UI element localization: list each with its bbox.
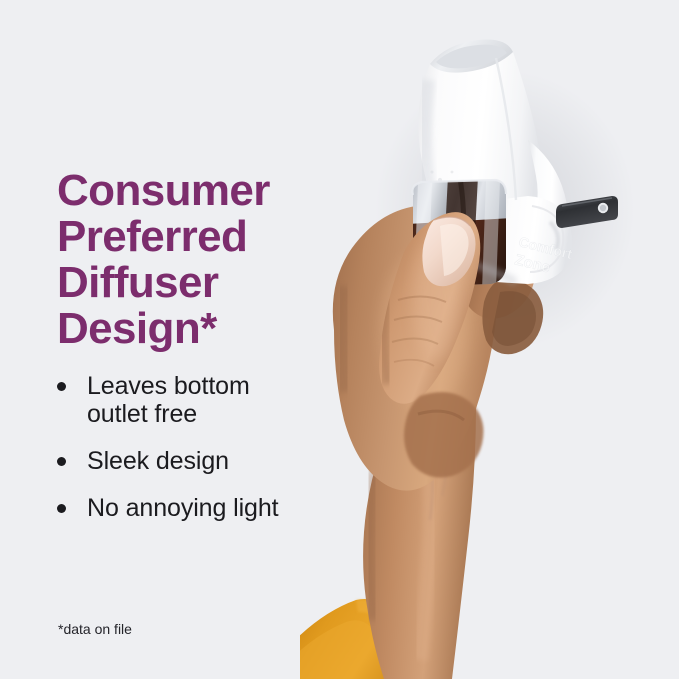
bullet-icon	[57, 457, 66, 466]
list-item: No annoying light	[57, 494, 367, 522]
list-item-label: Sleek design	[87, 447, 229, 475]
list-item-label: Leaves bottom outlet free	[87, 372, 250, 428]
product-feature-graphic: Comfort Zone	[0, 0, 679, 679]
page-title: Consumer Preferred Diffuser Design*	[57, 168, 357, 352]
bullet-icon	[57, 382, 66, 391]
benefit-list: Leaves bottom outlet free Sleek design N…	[57, 372, 367, 541]
footnote: *data on file	[58, 621, 132, 637]
copy-block: Consumer Preferred Diffuser Design* Leav…	[57, 168, 357, 352]
bullet-icon	[57, 504, 66, 513]
list-item: Leaves bottom outlet free	[57, 372, 367, 428]
list-item-label: No annoying light	[87, 494, 279, 522]
list-item: Sleek design	[57, 447, 367, 475]
